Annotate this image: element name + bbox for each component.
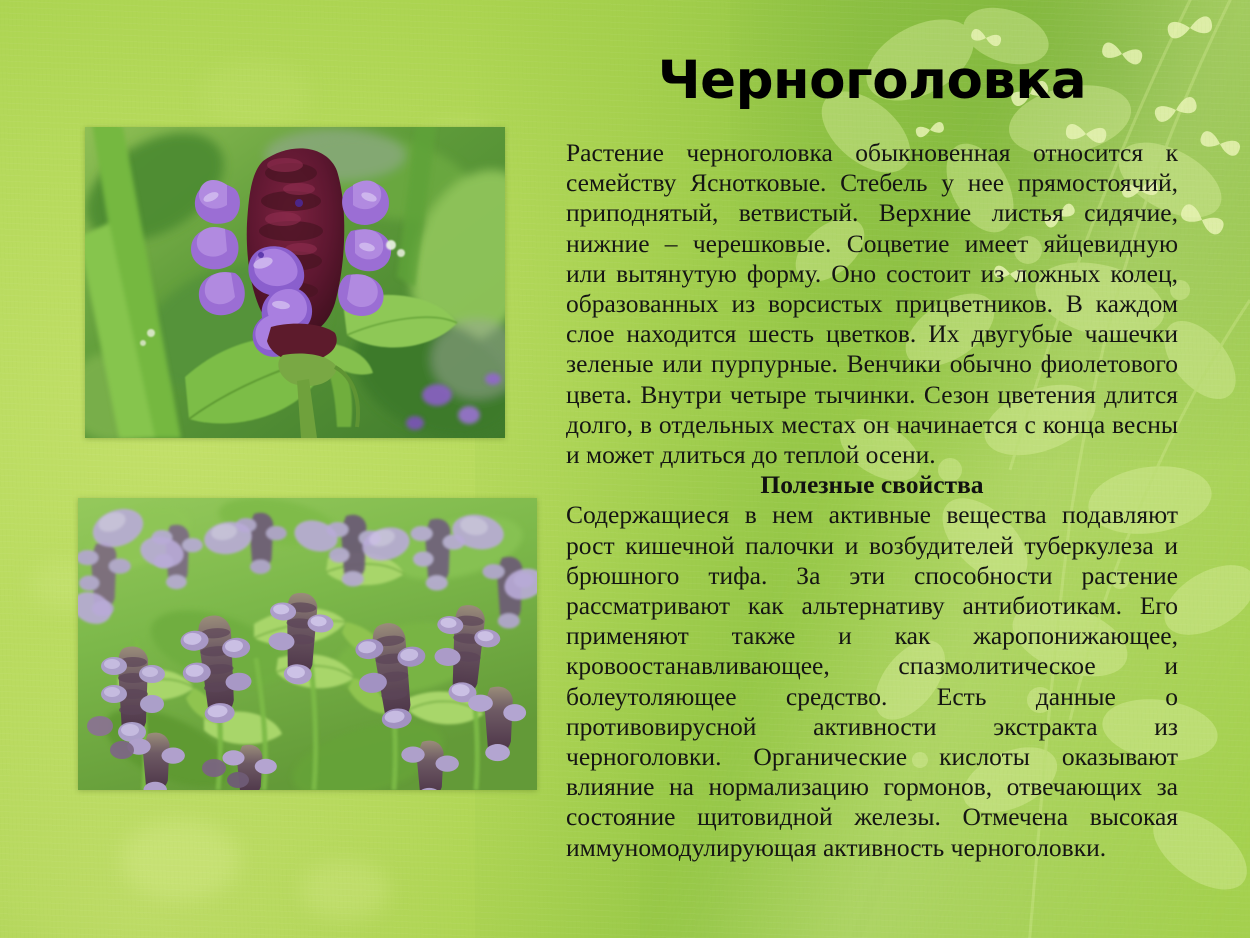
paragraph-useful-properties: Содержащиеся в нем активные вещества под…	[566, 500, 1178, 862]
section-heading-useful-properties: Полезные свойства	[566, 470, 1178, 500]
content-text-column: Черноголовка Растение черноголовка обыкн…	[566, 52, 1178, 863]
image-flower-field	[78, 498, 537, 790]
page-title: Черноголовка	[566, 52, 1178, 110]
image-flower-closeup	[85, 127, 505, 438]
presentation-slide: Черноголовка Растение черноголовка обыкн…	[0, 0, 1250, 938]
paragraph-description: Растение черноголовка обыкновенная относ…	[566, 138, 1178, 470]
